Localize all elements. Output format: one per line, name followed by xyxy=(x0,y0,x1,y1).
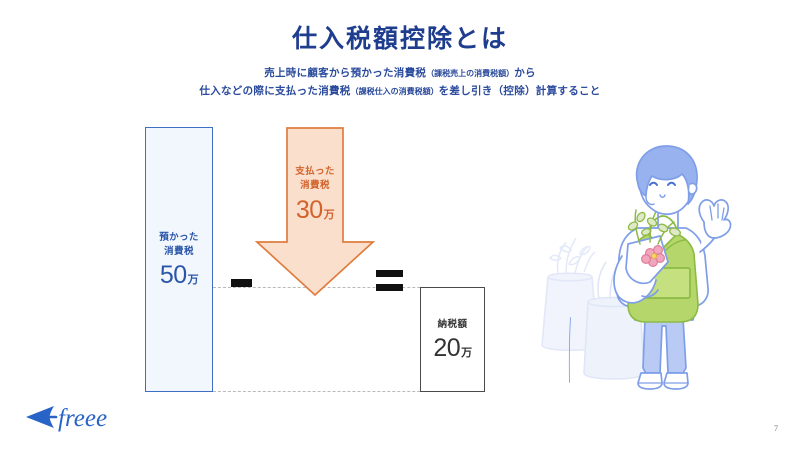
freee-logo[interactable]: freee xyxy=(22,398,132,436)
slide-canvas: 仕入税額控除とは 売上時に顧客から預かった消費税（課税売上の消費税額）から 仕入… xyxy=(0,0,800,450)
paid-tax-label-line1: 支払った xyxy=(255,165,375,179)
payable-tax-amount-value: 20 xyxy=(433,334,460,362)
received-tax-label-line2: 消費税 xyxy=(159,245,199,259)
received-tax-label-line1: 預かった xyxy=(159,231,199,245)
payable-tax-box: 納税額 20万 xyxy=(420,287,485,392)
received-tax-amount-unit: 万 xyxy=(188,274,199,286)
payable-tax-amount: 20万 xyxy=(433,336,471,361)
equals-bar-top xyxy=(376,270,403,277)
payable-tax-label: 納税額 xyxy=(438,318,468,331)
page-number: 7 xyxy=(774,424,778,433)
paid-tax-amount-unit: 万 xyxy=(324,209,335,221)
equals-operator-icon xyxy=(376,270,403,292)
received-tax-amount: 50万 xyxy=(160,263,198,288)
paid-tax-amount-value: 30 xyxy=(296,196,323,224)
paid-tax-text-group: 支払った 消費税 30万 xyxy=(255,165,375,223)
received-tax-amount-value: 50 xyxy=(160,261,187,289)
received-tax-bar: 預かった 消費税 50万 xyxy=(145,127,213,392)
payable-tax-amount-unit: 万 xyxy=(461,347,472,359)
paid-tax-amount: 30万 xyxy=(255,198,375,223)
equals-bar-bottom xyxy=(376,284,403,291)
minus-operator-icon xyxy=(231,279,252,287)
paid-tax-label-line2: 消費税 xyxy=(255,179,375,193)
freee-wordmark: freee xyxy=(58,405,107,432)
paid-tax-label: 支払った 消費税 xyxy=(255,165,375,193)
florist-woman-illustration xyxy=(500,140,740,395)
received-tax-label: 預かった 消費税 xyxy=(159,231,199,259)
